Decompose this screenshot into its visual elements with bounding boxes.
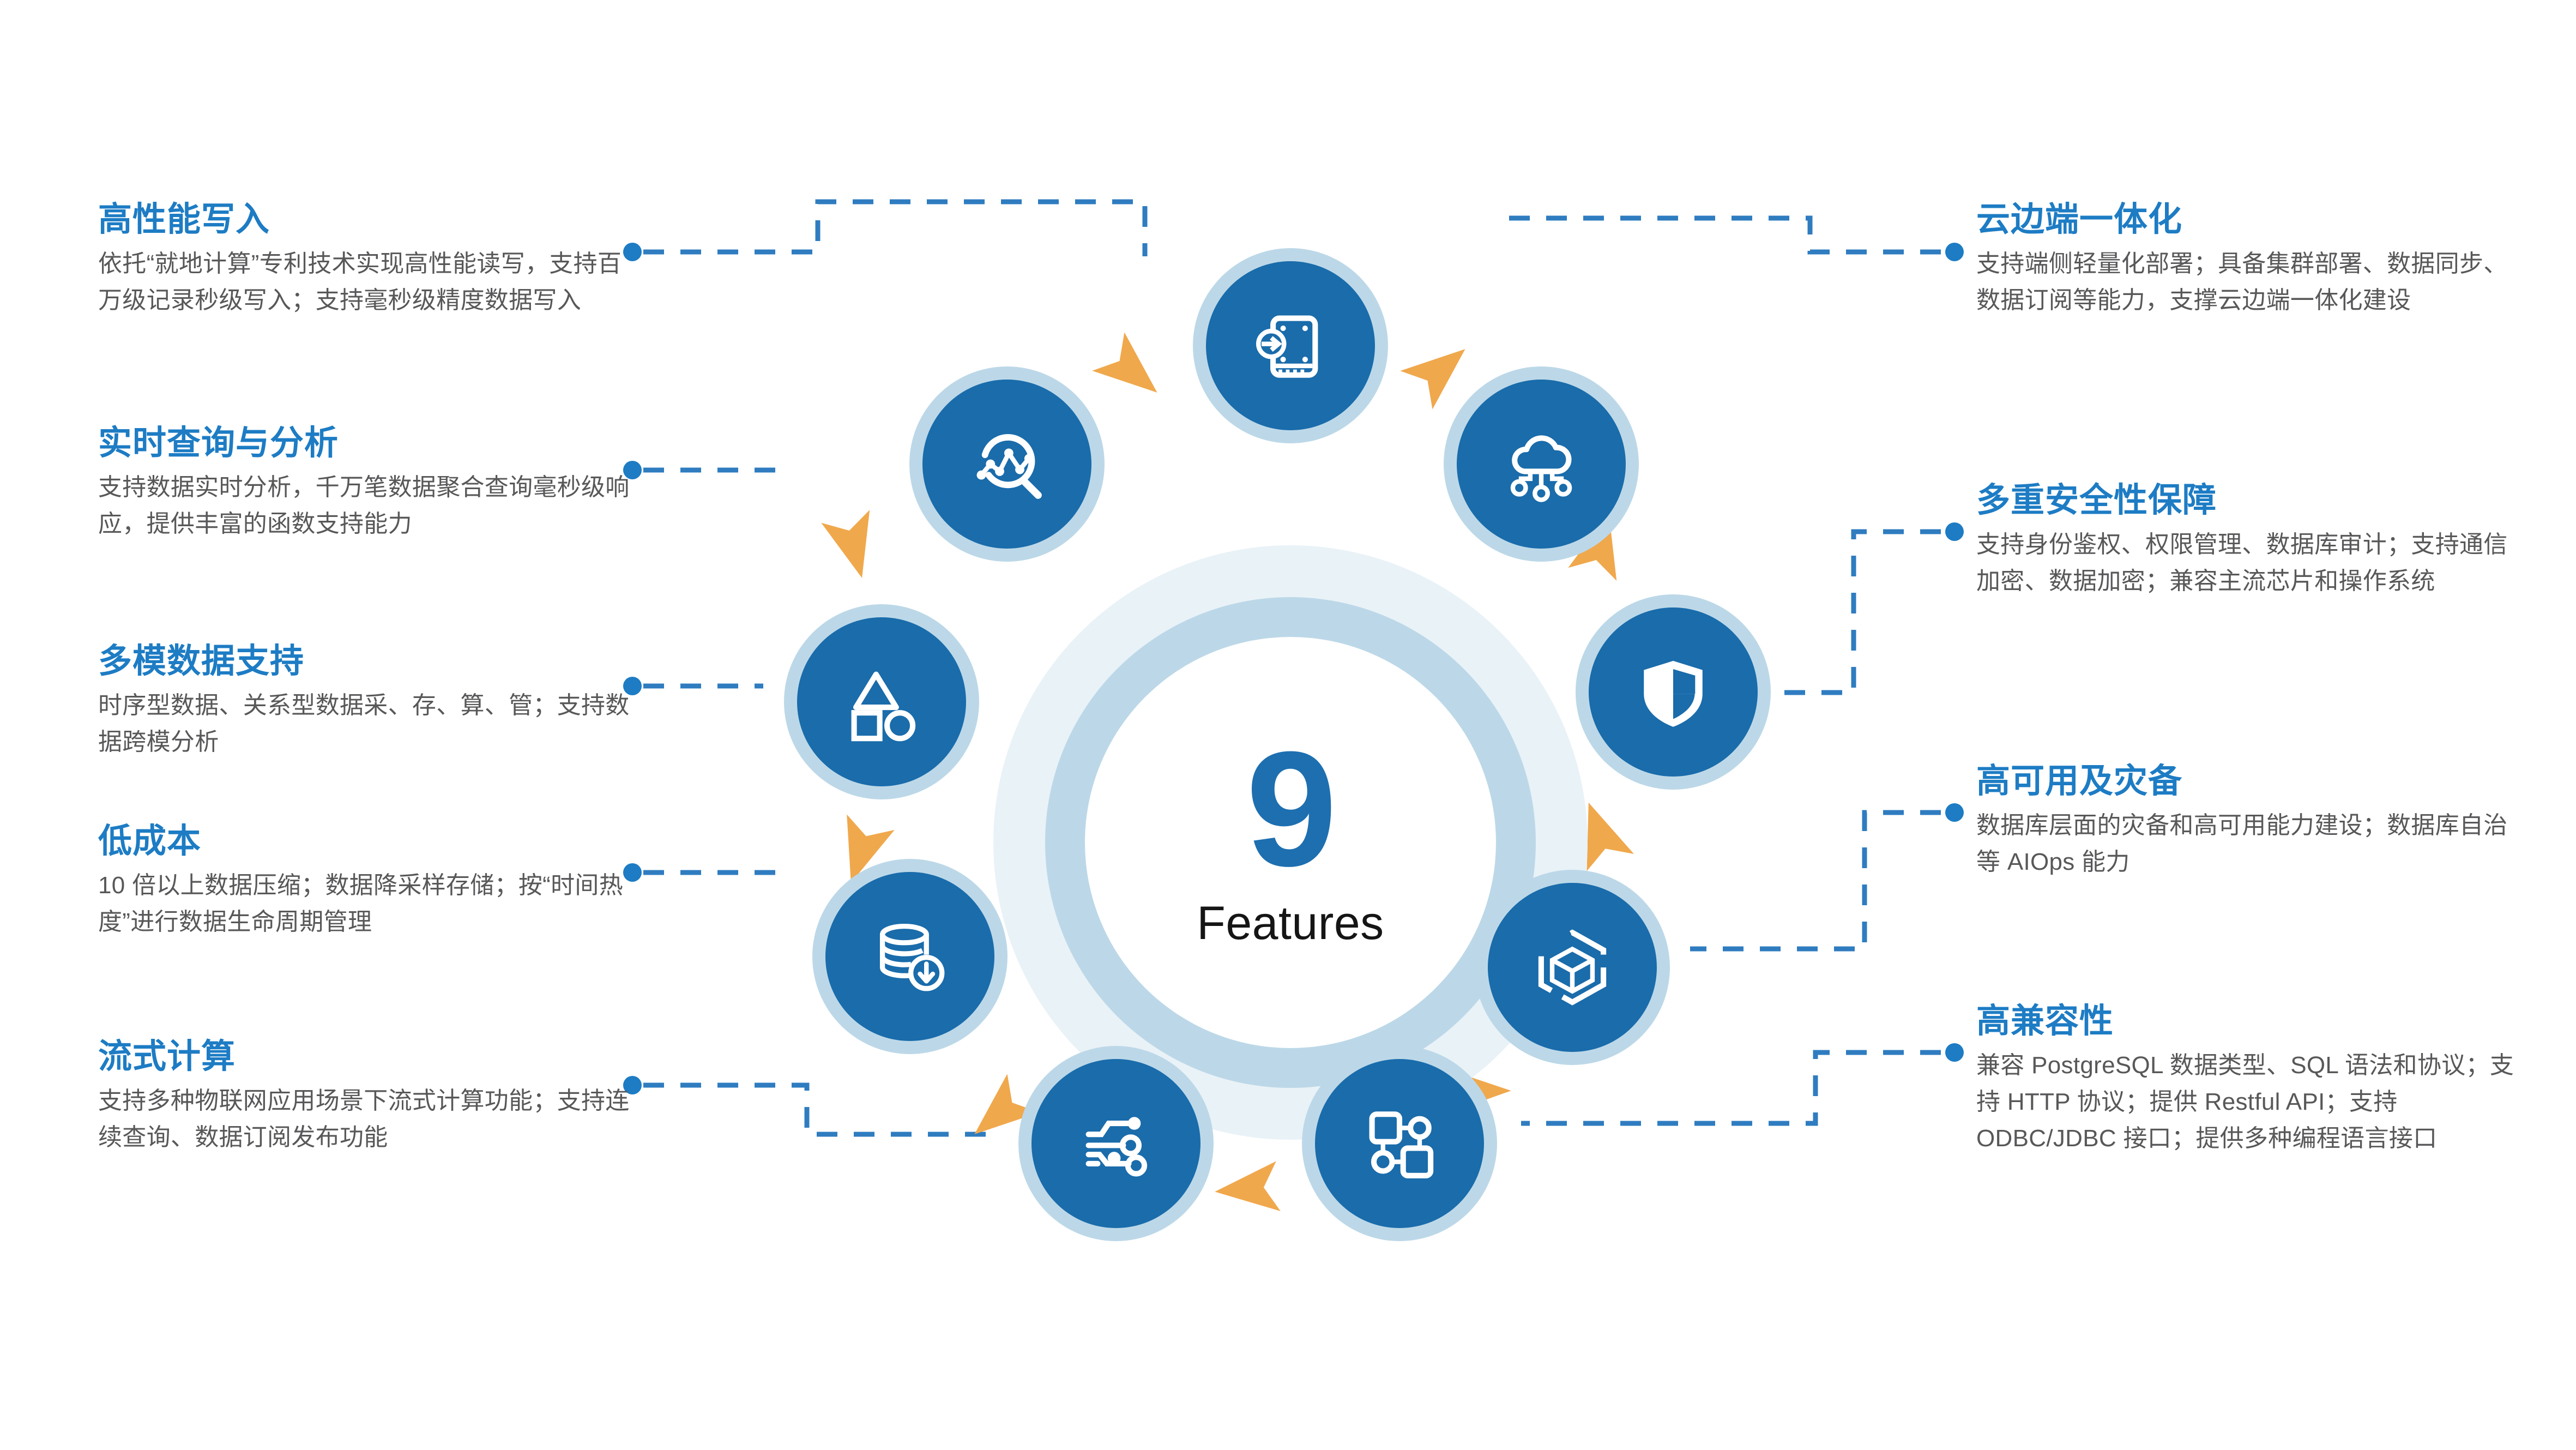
stream-circuit-icon xyxy=(1070,1098,1162,1189)
center-hub: 9 Features xyxy=(993,545,1588,1140)
feature-right-3: 高可用及灾备 数据库层面的灾备和高可用能力建设；数据库自治等 AIOps 能力 xyxy=(1976,763,2516,881)
feature-right-2: 多重安全性保障 支持身份鉴权、权限管理、数据库审计；支持通信加密、数据加密；兼容… xyxy=(1976,483,2516,600)
connector-right-3 xyxy=(1690,813,1941,949)
connector-right-1 xyxy=(1494,218,1941,252)
feature-left-2: 实时查询与分析 支持数据实时分析，千万笔数据聚合查询毫秒级响应，提供丰富的函数支… xyxy=(98,425,638,543)
feature-body: 支持端侧轻量化部署；具备集群部署、数据同步、数据订阅等能力，支撑云边端一体化建设 xyxy=(1976,246,2516,319)
feature-title: 高性能写入 xyxy=(98,202,638,238)
feature-title: 多模数据支持 xyxy=(98,643,638,680)
feature-title: 流式计算 xyxy=(98,1039,638,1075)
node-graph-icon xyxy=(1354,1098,1445,1189)
rotation-arrow-1 xyxy=(1092,332,1173,412)
connector-dot-right-2 xyxy=(1945,522,1964,541)
feature-title: 实时查询与分析 xyxy=(98,425,638,462)
feature-left-4: 低成本 10 倍以上数据压缩；数据降采样存储；按“时间热度”进行数据生命周期管理 xyxy=(98,823,638,941)
rotation-arrow-9 xyxy=(821,510,886,585)
connector-left-1 xyxy=(643,202,1145,256)
feature-body: 时序型数据、关系型数据采、存、算、管；支持数据跨模分析 xyxy=(98,688,638,761)
icon-node-disk-write[interactable] xyxy=(1193,248,1388,443)
feature-body: 支持身份鉴权、权限管理、数据库审计；支持通信加密、数据加密；兼容主流芯片和操作系… xyxy=(1976,527,2516,600)
shapes-icon xyxy=(836,656,927,748)
feature-body: 支持多种物联网应用场景下流式计算功能；支持连续查询、数据订阅发布功能 xyxy=(98,1083,638,1156)
cube-hexagon-icon xyxy=(1527,922,1618,1013)
feature-left-1: 高性能写入 依托“就地计算”专利技术实现高性能读写，支持百万级记录秒级写入；支持… xyxy=(98,202,638,319)
analytics-search-icon xyxy=(961,418,1053,510)
disk-write-icon xyxy=(1245,300,1336,392)
feature-count: 9 xyxy=(1246,735,1335,882)
connector-dot-right-1 xyxy=(1945,243,1964,261)
feature-title: 云边端一体化 xyxy=(1976,202,2516,238)
cloud-network-icon xyxy=(1495,418,1587,510)
icon-node-cube-hexagon[interactable] xyxy=(1475,870,1670,1065)
connector-left-5 xyxy=(643,1085,992,1134)
feature-body: 兼容 PostgreSQL 数据类型、SQL 语法和协议；支持 HTTP 协议；… xyxy=(1976,1048,2516,1157)
icon-node-analytics-search[interactable] xyxy=(909,366,1105,562)
icon-node-node-graph[interactable] xyxy=(1302,1046,1497,1241)
icon-node-database-download[interactable] xyxy=(812,859,1008,1054)
feature-right-4: 高兼容性 兼容 PostgreSQL 数据类型、SQL 语法和协议；支持 HTT… xyxy=(1976,1003,2516,1157)
feature-title: 高可用及灾备 xyxy=(1976,763,2516,800)
feature-body: 依托“就地计算”专利技术实现高性能读写，支持百万级记录秒级写入；支持毫秒级精度数… xyxy=(98,246,638,319)
feature-left-3: 多模数据支持 时序型数据、关系型数据采、存、算、管；支持数据跨模分析 xyxy=(98,643,638,761)
feature-title: 低成本 xyxy=(98,823,638,860)
feature-body: 数据库层面的灾备和高可用能力建设；数据库自治等 AIOps 能力 xyxy=(1976,808,2516,881)
feature-body: 10 倍以上数据压缩；数据降采样存储；按“时间热度”进行数据生命周期管理 xyxy=(98,868,638,941)
connector-right-2 xyxy=(1772,532,1941,693)
feature-title: 高兼容性 xyxy=(1976,1003,2516,1040)
feature-left-5: 流式计算 支持多种物联网应用场景下流式计算功能；支持连续查询、数据订阅发布功能 xyxy=(98,1039,638,1156)
feature-body: 支持数据实时分析，千万笔数据聚合查询毫秒级响应，提供丰富的函数支持能力 xyxy=(98,470,638,543)
icon-node-stream-circuit[interactable] xyxy=(1018,1046,1214,1241)
hub-core: 9 Features xyxy=(1085,637,1496,1048)
rotation-arrow-6 xyxy=(1212,1161,1281,1217)
connector-dot-right-4 xyxy=(1945,1043,1964,1062)
infographic-canvas: 9 Features xyxy=(0,0,2576,1450)
connector-dot-right-3 xyxy=(1945,803,1964,822)
feature-right-1: 云边端一体化 支持端侧轻量化部署；具备集群部署、数据同步、数据订阅等能力，支撑云… xyxy=(1976,202,2516,319)
shield-icon xyxy=(1627,646,1719,738)
database-download-icon xyxy=(864,911,956,1002)
icon-node-cloud-network[interactable] xyxy=(1444,366,1639,562)
feature-title: 多重安全性保障 xyxy=(1976,483,2516,519)
icon-node-shapes[interactable] xyxy=(784,604,979,799)
feature-count-label: Features xyxy=(1197,897,1384,950)
icon-node-shield[interactable] xyxy=(1576,594,1771,790)
